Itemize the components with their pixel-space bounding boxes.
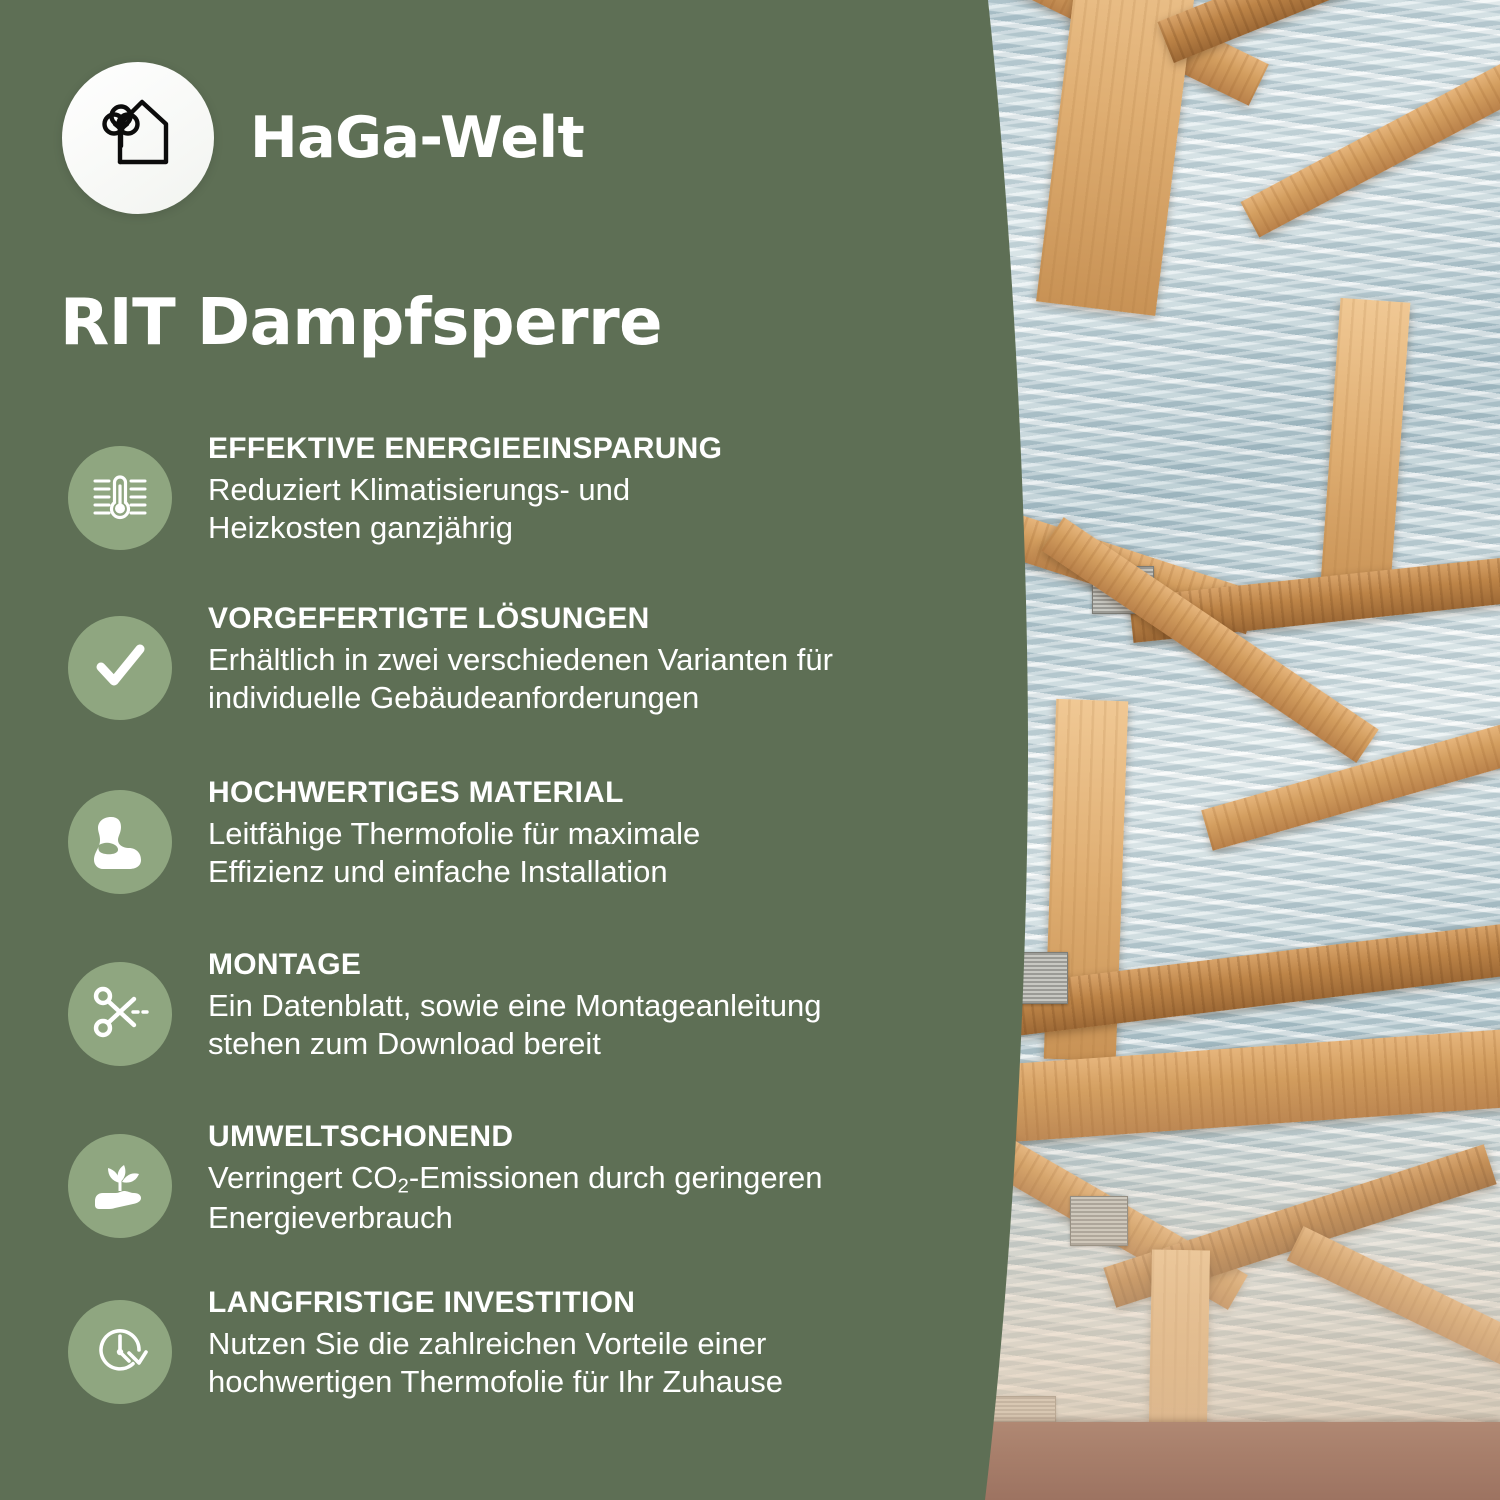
feature-item: MONTAGE Ein Datenblatt, sowie eine Monta… [60, 948, 1020, 1116]
feature-body-line: Erhältlich in zwei verschiedenen Variant… [208, 641, 1020, 679]
feature-icon-circle [68, 1300, 172, 1404]
house-with-tree-icon [90, 88, 186, 189]
co2-suffix: -Emissionen durch geringeren [409, 1160, 823, 1195]
feature-heading: LANGFRISTIGE INVESTITION [208, 1286, 1020, 1320]
feature-body: Verringert CO2-Emissionen durch geringer… [208, 1159, 1020, 1237]
feature-body-line: Leitfähige Thermofolie für maximale [208, 815, 1020, 853]
feature-item: EFFEKTIVE ENERGIEEINSPARUNG Reduziert Kl… [60, 432, 1020, 598]
co2-subscript: 2 [398, 1175, 409, 1198]
feature-item: UMWELTSCHONEND Verringert CO2-Emissionen… [60, 1120, 1020, 1282]
clock-arrow-icon [89, 1319, 151, 1386]
feature-body-line: Ein Datenblatt, sowie eine Montageanleit… [208, 987, 1020, 1025]
feature-heading: HOCHWERTIGES MATERIAL [208, 776, 1020, 810]
feature-body: Nutzen Sie die zahlreichen Vorteile eine… [208, 1325, 1020, 1402]
checkmark-icon [89, 635, 151, 702]
feature-heading: EFFEKTIVE ENERGIEEINSPARUNG [208, 432, 1020, 466]
scissors-icon [89, 981, 151, 1048]
flexed-biceps-icon [89, 809, 151, 876]
feature-item: HOCHWERTIGES MATERIAL Leitfähige Thermof… [60, 776, 1020, 944]
feature-list: EFFEKTIVE ENERGIEEINSPARUNG Reduziert Kl… [60, 432, 1020, 1450]
feature-body: Reduziert Klimatisierungs- und Heizkoste… [208, 471, 1020, 548]
feature-body: Leitfähige Thermofolie für maximale Effi… [208, 815, 1020, 892]
feature-body: Ein Datenblatt, sowie eine Montageanleit… [208, 987, 1020, 1064]
feature-icon-circle [68, 962, 172, 1066]
feature-body-line: Nutzen Sie die zahlreichen Vorteile eine… [208, 1325, 1020, 1363]
feature-heading: UMWELTSCHONEND [208, 1120, 1020, 1154]
brand-logo-badge [62, 62, 214, 214]
feature-icon-circle [68, 446, 172, 550]
feature-icon-circle [68, 790, 172, 894]
brand-lockup: HaGa-Welt [62, 62, 584, 214]
feature-icon-circle [68, 1134, 172, 1238]
brand-name: HaGa-Welt [250, 105, 584, 171]
feature-body-line: Energieverbrauch [208, 1199, 1020, 1237]
feature-heading: MONTAGE [208, 948, 1020, 982]
feature-item: LANGFRISTIGE INVESTITION Nutzen Sie die … [60, 1286, 1020, 1446]
feature-body-line: stehen zum Download bereit [208, 1025, 1020, 1063]
thermometer-icon [89, 465, 151, 532]
feature-body-line: individuelle Gebäudeanforderungen [208, 679, 1020, 717]
feature-body-line: Verringert CO2-Emissionen durch geringer… [208, 1159, 1020, 1199]
co2-prefix: Verringert CO [208, 1160, 398, 1195]
feature-body-line: hochwertigen Thermofolie für Ihr Zuhause [208, 1363, 1020, 1401]
feature-body-line: Effizienz und einfache Installation [208, 853, 1020, 891]
feature-item: VORGEFERTIGTE LÖSUNGEN Erhältlich in zwe… [60, 602, 1020, 772]
hand-with-plant-icon [89, 1153, 151, 1220]
feature-body-line: Reduziert Klimatisierungs- und [208, 471, 1020, 509]
page-title: RIT Dampfsperre [60, 286, 662, 360]
feature-icon-circle [68, 616, 172, 720]
feature-body: Erhältlich in zwei verschiedenen Variant… [208, 641, 1020, 718]
feature-body-line: Heizkosten ganzjährig [208, 509, 1020, 547]
feature-heading: VORGEFERTIGTE LÖSUNGEN [208, 602, 1020, 636]
panel-content: HaGa-Welt RIT Dampfsperre [0, 0, 1040, 1500]
